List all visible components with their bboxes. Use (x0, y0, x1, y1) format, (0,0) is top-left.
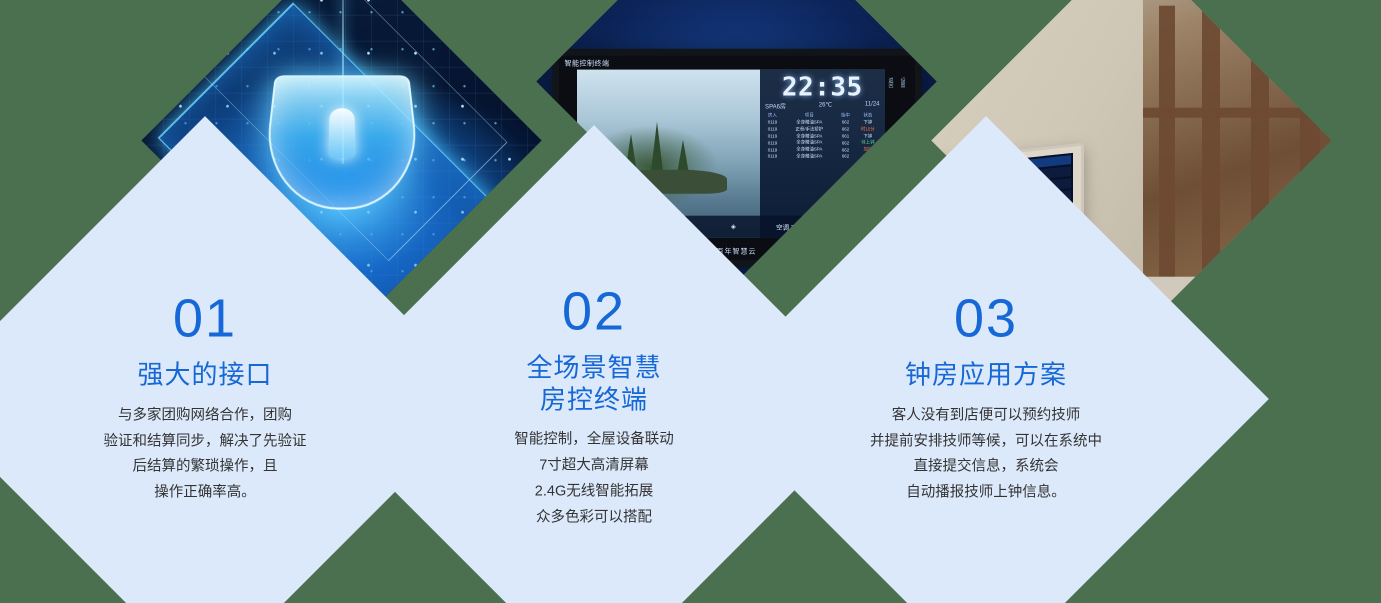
wood-beam-icon (1143, 107, 1332, 117)
infographic-stage: 智能控制终端 22:35 SPA6房 26℃ 11/24 (0, 0, 1381, 603)
desc-line: 智能控制，全屋设备联动 (394, 428, 794, 454)
desc-line: 操作正确率高。 (5, 481, 405, 507)
table-row: 0119 正骨/手法矫护 662 时15分 (763, 125, 881, 132)
cell-item: 正骨/手法矫护 (782, 125, 837, 132)
wood-slat-icon (1159, 5, 1175, 321)
cell-tech: 662 (837, 153, 855, 160)
col-header: 始中 (837, 112, 855, 119)
cell-status: 下钟 (854, 132, 881, 139)
panel-1-number: 01 (5, 292, 405, 346)
cell-item: 全身精油SPA (782, 119, 837, 126)
panel-3-title-line: 钟房应用方案 (786, 360, 1186, 392)
device-clock: 22:35 (763, 74, 881, 100)
device-side-buttons: 设置 返回 (888, 77, 907, 87)
panel-3-description: 客人没有到店便可以预约技师 并提前安排技师等候，可以在系统中 直接提交信息，系统… (786, 403, 1186, 506)
device-side-label-settings: 设置 (900, 77, 907, 87)
col-header: 项目 (782, 112, 837, 119)
col-header: 状态 (854, 112, 881, 119)
cell-status: 时15分 (854, 125, 881, 132)
device-date-label: 11/24 (865, 101, 880, 110)
panel-3-title: 钟房应用方案 (786, 360, 1186, 392)
cell-item: 全身精油SPA (782, 132, 837, 139)
cell-status: 下钟 (854, 119, 881, 126)
desc-line: 直接提交信息，系统会 (786, 455, 1186, 481)
table-row: 0119 全身精油SPA 662 下钟 (763, 153, 881, 160)
cell-item: 全身精油SPA (782, 146, 837, 153)
table-row: 0119 全身精油SPA 662 加钟 (763, 146, 881, 153)
wood-slat-icon (1300, 0, 1320, 321)
cell-item: 全身精油SPA (782, 153, 837, 160)
cell-status: 待上钟 (854, 139, 881, 146)
cell-tech: 662 (837, 119, 855, 126)
device-button-service: 服务模式 (838, 221, 864, 231)
table-header-row: 房入 项目 始中 状态 (763, 112, 881, 119)
device-home-icon: ◈ (731, 222, 736, 230)
cell-room: 0119 (763, 125, 782, 132)
table-row: 0119 全身精油SPA 662 下钟 (763, 119, 881, 126)
cell-room: 0119 (763, 153, 782, 160)
cell-status: 加钟 (854, 146, 881, 153)
col-header: 房入 (763, 112, 782, 119)
device-side-label-back: 返回 (888, 77, 895, 87)
device-room-label: SPA6房 (765, 101, 786, 110)
cell-item: 全身精油SPA (782, 139, 837, 146)
desc-line: 2.4G无线智能拓展 (394, 480, 794, 506)
desc-line: 后结算的繁琐操作，且 (5, 455, 405, 481)
cell-room: 0119 (763, 119, 782, 126)
cell-tech: 661 (837, 132, 855, 139)
panel-2-number: 02 (394, 285, 794, 339)
desc-line: 自动播报技师上钟信息。 (786, 481, 1186, 507)
wood-slat-icon (1202, 0, 1220, 321)
desc-line: 7寸超大高清屏幕 (394, 454, 794, 480)
table-row: 0119 全身精油SPA 661 下钟 (763, 132, 881, 139)
table-row: 0119 全身精油SPA 662 待上钟 (763, 139, 881, 146)
desc-line: 并提前安排技师等候，可以在系统中 (786, 429, 1186, 455)
device-button-ac: 空调 26 (776, 221, 798, 231)
panel-3-number: 03 (786, 292, 1186, 346)
desc-line: 众多色彩可以搭配 (394, 506, 794, 532)
cell-status: 下钟 (854, 153, 881, 160)
cell-tech: 662 (837, 139, 855, 146)
device-temp-label: 26℃ (819, 101, 832, 110)
cell-tech: 662 (837, 125, 855, 132)
device-brand-label: 智能控制终端 (565, 58, 610, 68)
panel-3-content: 03 钟房应用方案 客人没有到店便可以预约技师 并提前安排技师等候，可以在系统中… (786, 292, 1186, 507)
cell-room: 0119 (763, 146, 782, 153)
cell-room: 0119 (763, 139, 782, 146)
desc-line: 客人没有到店便可以预约技师 (786, 403, 1186, 429)
wood-slat-icon (1251, 0, 1269, 321)
cell-tech: 662 (837, 146, 855, 153)
device-schedule-table: 房入 项目 始中 状态 0119 全身精油SPA 662 (763, 112, 881, 160)
potted-plant-icon (1268, 322, 1332, 341)
device-info-pane: 22:35 SPA6房 26℃ 11/24 房入 项目 始中 (760, 69, 884, 237)
panel-2-description: 智能控制，全屋设备联动 7寸超大高清屏幕 2.4G无线智能拓展 众多色彩可以搭配 (394, 428, 794, 531)
cell-room: 0119 (763, 132, 782, 139)
device-meta-row: SPA6房 26℃ 11/24 (763, 101, 881, 112)
